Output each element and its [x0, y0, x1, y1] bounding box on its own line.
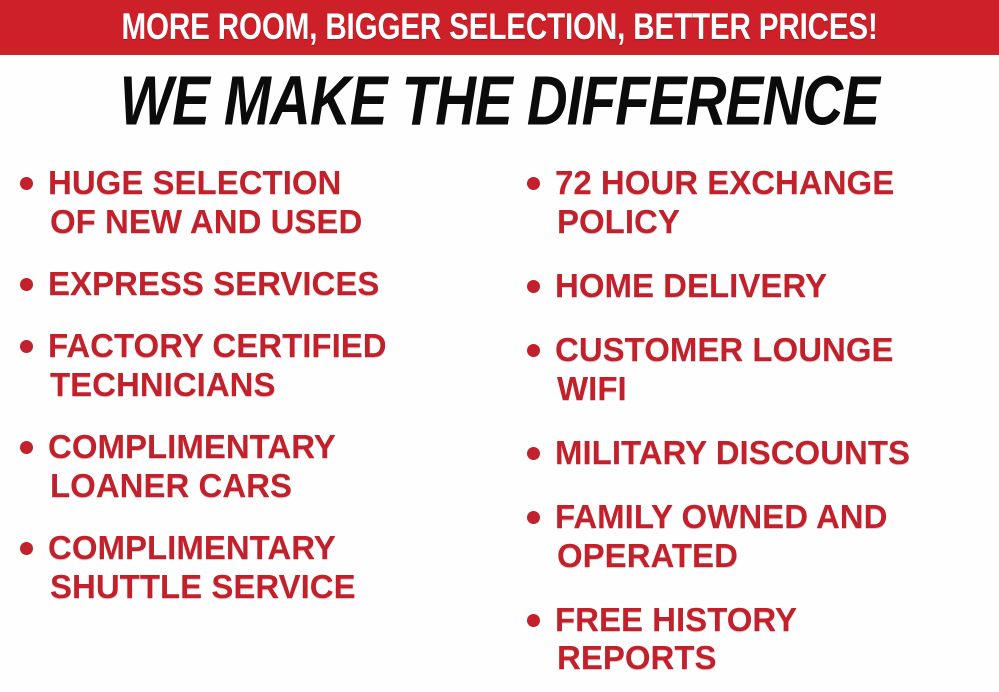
feature-list-item-line: CUSTOMER LOUNGE: [555, 331, 894, 370]
feature-list-item-line: TECHNICIANS: [48, 366, 387, 405]
feature-list-item: COMPLIMENTARYSHUTTLE SERVICE: [20, 529, 505, 607]
feature-list-item-line: MILITARY DISCOUNTS: [555, 434, 910, 473]
main-headline: WE MAKE THE DIFFERENCE: [120, 66, 879, 135]
feature-list-item: HUGE SELECTIONOF NEW AND USED: [20, 164, 505, 242]
feature-list-item-label: COMPLIMENTARYLOANER CARS: [48, 428, 336, 506]
feature-list-item-line: REPORTS: [555, 639, 797, 678]
feature-list-item-label: HUGE SELECTIONOF NEW AND USED: [48, 164, 362, 242]
feature-list-item-line: 72 HOUR EXCHANGE: [555, 164, 894, 203]
round-bullet-icon: [527, 447, 540, 460]
feature-list-item: FREE HISTORYREPORTS: [527, 601, 999, 679]
feature-list-item: FACTORY CERTIFIEDTECHNICIANS: [20, 327, 505, 405]
round-bullet-icon: [20, 441, 33, 454]
round-bullet-icon: [527, 280, 540, 293]
promo-banner-text: MORE ROOM, BIGGER SELECTION, BETTER PRIC…: [121, 8, 877, 47]
round-bullet-icon: [527, 344, 540, 357]
feature-list-item-line: EXPRESS SERVICES: [48, 265, 379, 304]
feature-list-item-line: COMPLIMENTARY: [48, 529, 356, 568]
feature-list-item-label: FAMILY OWNED ANDOPERATED: [555, 498, 887, 576]
features-columns: HUGE SELECTIONOF NEW AND USEDEXPRESS SER…: [0, 150, 999, 692]
feature-list-item: COMPLIMENTARYLOANER CARS: [20, 428, 505, 506]
feature-list-item: HOME DELIVERY: [527, 267, 999, 306]
feature-list-item: EXPRESS SERVICES: [20, 265, 505, 304]
feature-list-item-line: COMPLIMENTARY: [48, 428, 336, 467]
feature-list-item-label: FACTORY CERTIFIEDTECHNICIANS: [48, 327, 387, 405]
round-bullet-icon: [527, 511, 540, 524]
feature-list-item-label: FREE HISTORYREPORTS: [555, 601, 797, 679]
headline-container: WE MAKE THE DIFFERENCE: [0, 62, 999, 140]
feature-list-item-label: HOME DELIVERY: [555, 267, 827, 306]
top-promo-banner: MORE ROOM, BIGGER SELECTION, BETTER PRIC…: [0, 0, 999, 55]
feature-list-item-line: LOANER CARS: [48, 467, 336, 506]
feature-list-item: FAMILY OWNED ANDOPERATED: [527, 498, 999, 576]
feature-list-item-label: 72 HOUR EXCHANGEPOLICY: [555, 164, 894, 242]
round-bullet-icon: [20, 340, 33, 353]
feature-list-item-line: POLICY: [555, 203, 894, 242]
feature-list-item-line: FAMILY OWNED AND: [555, 498, 887, 537]
feature-list-item-label: EXPRESS SERVICES: [48, 265, 379, 304]
feature-list-item-line: HUGE SELECTION: [48, 164, 362, 203]
feature-list-item-line: OPERATED: [555, 537, 887, 576]
round-bullet-icon: [20, 177, 33, 190]
feature-list-item-label: MILITARY DISCOUNTS: [555, 434, 910, 473]
feature-list-item-label: COMPLIMENTARYSHUTTLE SERVICE: [48, 529, 356, 607]
feature-list-item: 72 HOUR EXCHANGEPOLICY: [527, 164, 999, 242]
feature-list-item: CUSTOMER LOUNGEWIFI: [527, 331, 999, 409]
feature-list-item-line: HOME DELIVERY: [555, 267, 827, 306]
feature-list-item-label: CUSTOMER LOUNGEWIFI: [555, 331, 894, 409]
feature-list-item-line: FACTORY CERTIFIED: [48, 327, 387, 366]
feature-list-item-line: OF NEW AND USED: [48, 203, 362, 242]
features-column-right: 72 HOUR EXCHANGEPOLICYHOME DELIVERYCUSTO…: [505, 150, 999, 692]
round-bullet-icon: [527, 177, 540, 190]
round-bullet-icon: [527, 614, 540, 627]
feature-list-item: MILITARY DISCOUNTS: [527, 434, 999, 473]
round-bullet-icon: [20, 542, 33, 555]
feature-list-item-line: SHUTTLE SERVICE: [48, 568, 356, 607]
features-column-left: HUGE SELECTIONOF NEW AND USEDEXPRESS SER…: [0, 150, 505, 692]
round-bullet-icon: [20, 278, 33, 291]
feature-list-item-line: WIFI: [555, 370, 894, 409]
feature-list-item-line: FREE HISTORY: [555, 601, 797, 640]
advertisement-banner: MORE ROOM, BIGGER SELECTION, BETTER PRIC…: [0, 0, 999, 692]
